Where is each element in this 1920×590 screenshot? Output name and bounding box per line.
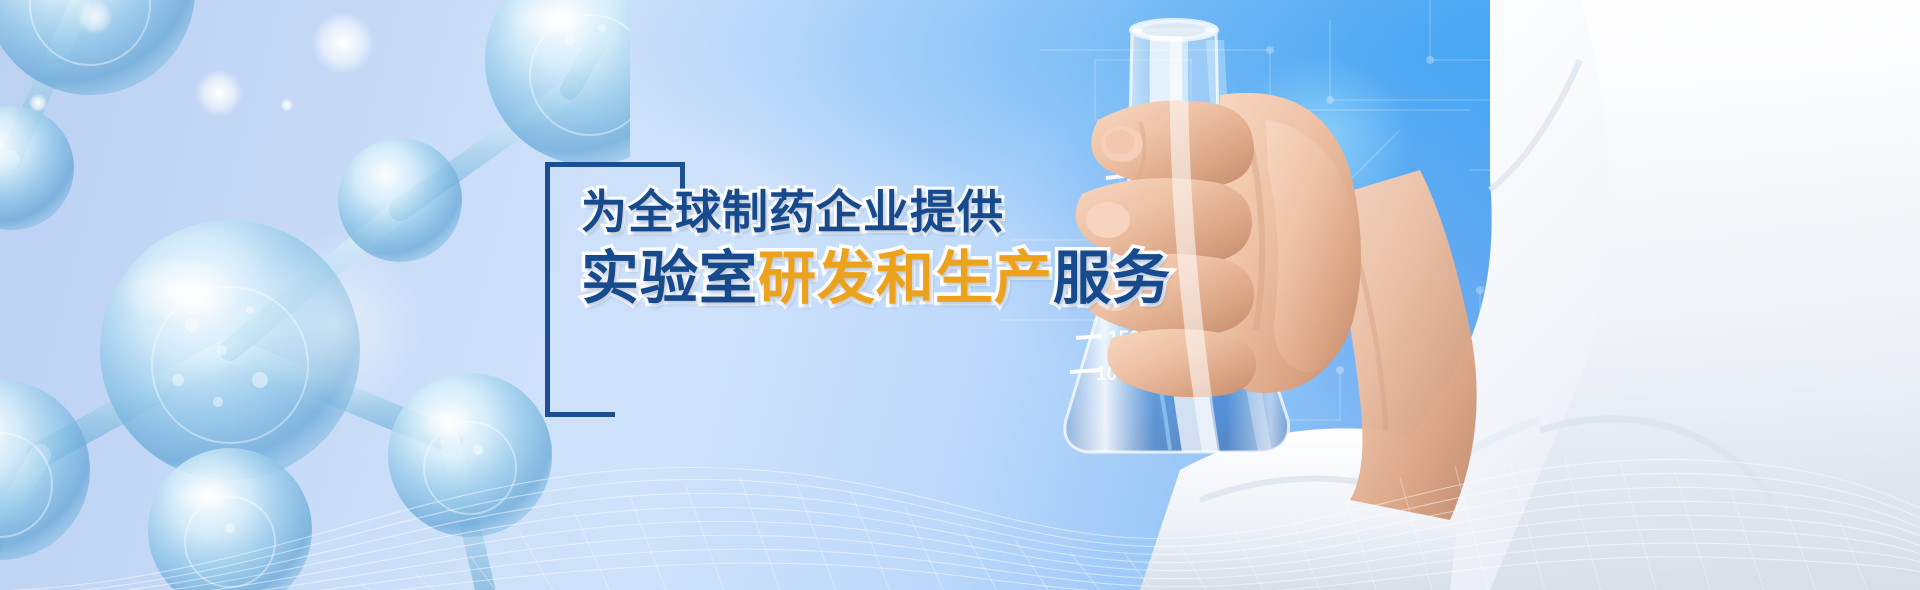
headline-block: 为全球制药企业提供 实验室研发和生产服务 bbox=[545, 150, 1185, 410]
headline-line-2-part-3: 服务 bbox=[1053, 246, 1171, 311]
headline-text-group: 为全球制药企业提供 实验室研发和生产服务 bbox=[581, 184, 1171, 314]
pharma-hero-banner: 250 APPROX 200 150 100 bbox=[0, 0, 1920, 590]
bokeh-light-2 bbox=[186, 60, 252, 126]
headline-line-2: 实验室研发和生产服务 bbox=[581, 244, 1171, 314]
bokeh-light-4 bbox=[278, 96, 296, 114]
headline-line-1: 为全球制药企业提供 bbox=[581, 184, 1171, 240]
headline-line-2-part-2: 研发和生产 bbox=[758, 246, 1053, 311]
bokeh-light-1 bbox=[300, 0, 386, 86]
headline-line-2-part-1: 实验室 bbox=[581, 246, 758, 311]
bokeh-light-3 bbox=[25, 90, 51, 116]
